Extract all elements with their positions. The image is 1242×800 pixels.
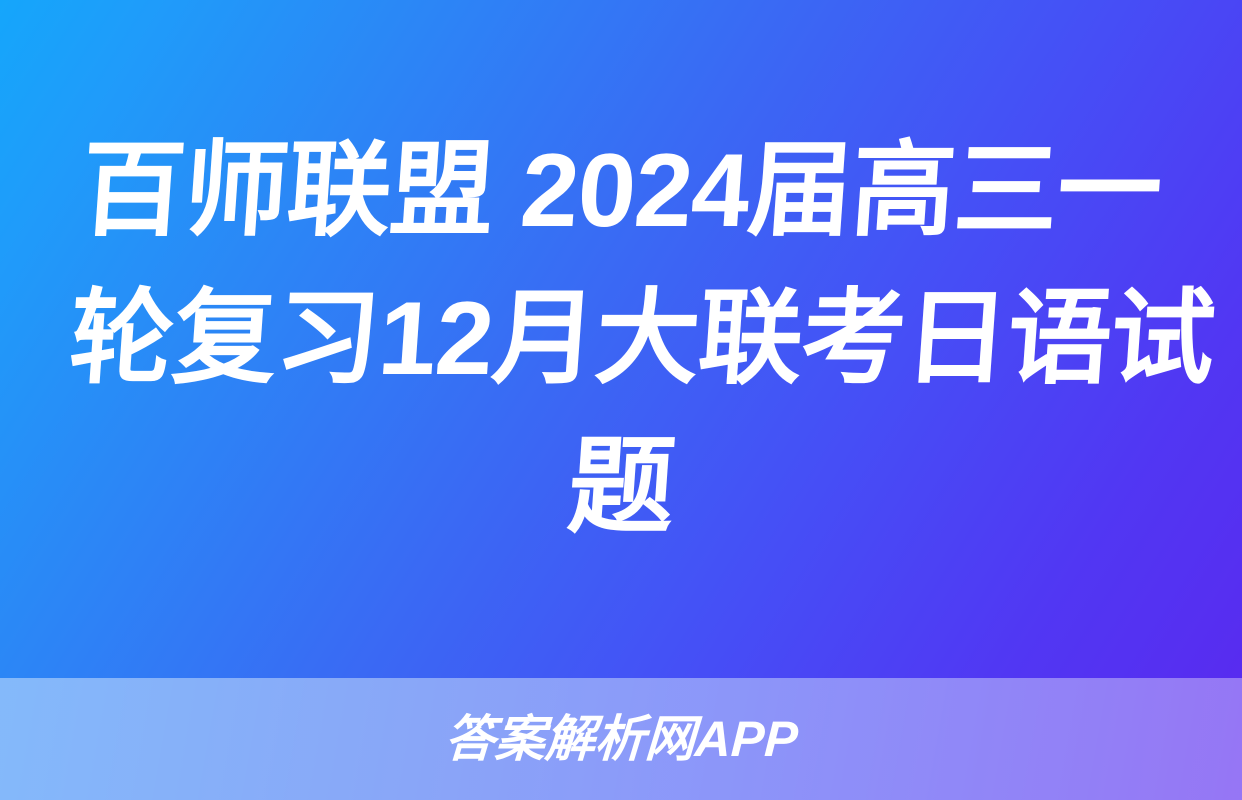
banner-title-block: 百师联盟 2024届高三一 轮复习12月大联考日语试 题 <box>0 0 1242 678</box>
banner-footer-band: 答案解析网APP <box>0 678 1242 800</box>
banner-title-line-2: 轮复习12月大联考日语试 <box>65 265 1177 413</box>
app-brand-label: 答案解析网APP <box>443 714 798 764</box>
banner-title-line-1: 百师联盟 2024届高三一 <box>65 117 1177 265</box>
promo-banner-card: 百师联盟 2024届高三一 轮复习12月大联考日语试 题 答案解析网APP <box>0 0 1242 800</box>
banner-title-line-3: 题 <box>65 413 1177 561</box>
